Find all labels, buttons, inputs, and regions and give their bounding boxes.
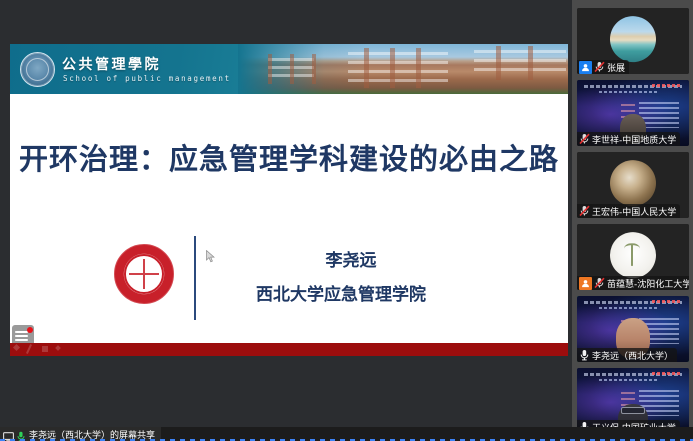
pin-badge-icon <box>579 277 592 290</box>
presenter-name: 李尧远 <box>216 246 486 271</box>
slide-banner: 公共管理學院 School of public management <box>10 44 568 94</box>
participant-label: 王宏伟-中国人民大学 <box>577 204 680 218</box>
avatar <box>610 232 656 278</box>
microphone-muted-icon <box>579 133 590 145</box>
microphone-icon <box>16 429 26 440</box>
slide-title: 开环治理：应急管理学科建设的必由之路 <box>10 136 568 178</box>
glasses <box>621 407 645 414</box>
participant-label: 苗蕴慧-沈阳化工大学 <box>577 276 689 290</box>
campus-building-photo <box>238 44 568 94</box>
participant-label: 李世祥-中国地质大学 <box>577 132 680 146</box>
avatar <box>610 160 656 206</box>
presenter-block: 李尧远 西北大学应急管理学院 <box>106 236 486 320</box>
school-name-cn: 公共管理學院 <box>62 54 161 74</box>
school-name-en: School of public management <box>63 74 231 83</box>
participant-video-strip[interactable]: 张展 李世祥-中国地质大学 王宏伟-中国人民大学 <box>572 0 693 441</box>
microphone-muted-icon <box>594 61 605 73</box>
participant-tile[interactable]: 苗蕴慧-沈阳化工大学 <box>577 224 689 290</box>
participant-tile[interactable]: 张展 <box>577 8 689 74</box>
participant-label: 李尧远（西北大学） <box>577 348 677 362</box>
participant-name: 李尧远（西北大学） <box>592 349 673 362</box>
participant-tile-active-speaker[interactable]: 李尧远（西北大学） <box>577 296 689 362</box>
microphone-icon <box>579 349 590 361</box>
participant-tile[interactable]: 王宏伟-中国人民大学 <box>577 152 689 218</box>
participant-name: 苗蕴慧-沈阳化工大学 <box>607 277 689 290</box>
slide-footer-bar <box>10 343 568 356</box>
presenter-organization: 西北大学应急管理学院 <box>196 280 486 305</box>
notification-badge <box>27 327 33 333</box>
shared-screen-area[interactable]: 公共管理學院 School of public management 开环治理：… <box>0 0 572 427</box>
avatar <box>610 16 656 62</box>
monitor-icon <box>3 429 14 439</box>
participant-name: 王宏伟-中国人民大学 <box>592 205 676 218</box>
mouse-cursor <box>206 250 215 263</box>
presentation-slide: 公共管理學院 School of public management 开环治理：… <box>10 44 568 356</box>
participant-name: 张展 <box>607 61 625 74</box>
school-seal-logo <box>20 52 55 87</box>
participant-name: 李世祥-中国地质大学 <box>592 133 676 146</box>
northwest-university-seal <box>114 244 174 304</box>
pin-badge-icon <box>579 61 592 74</box>
participant-label: 张展 <box>577 60 629 74</box>
vertical-divider <box>194 236 196 320</box>
share-top-letterbox <box>0 0 572 44</box>
participant-tile[interactable]: 李世祥-中国地质大学 <box>577 80 689 146</box>
conference-app-window: 公共管理學院 School of public management 开环治理：… <box>0 0 693 441</box>
participant-tile[interactable]: 王义保 中国矿业大学 <box>577 368 689 434</box>
microphone-muted-icon <box>594 277 605 289</box>
microphone-muted-icon <box>579 205 590 217</box>
